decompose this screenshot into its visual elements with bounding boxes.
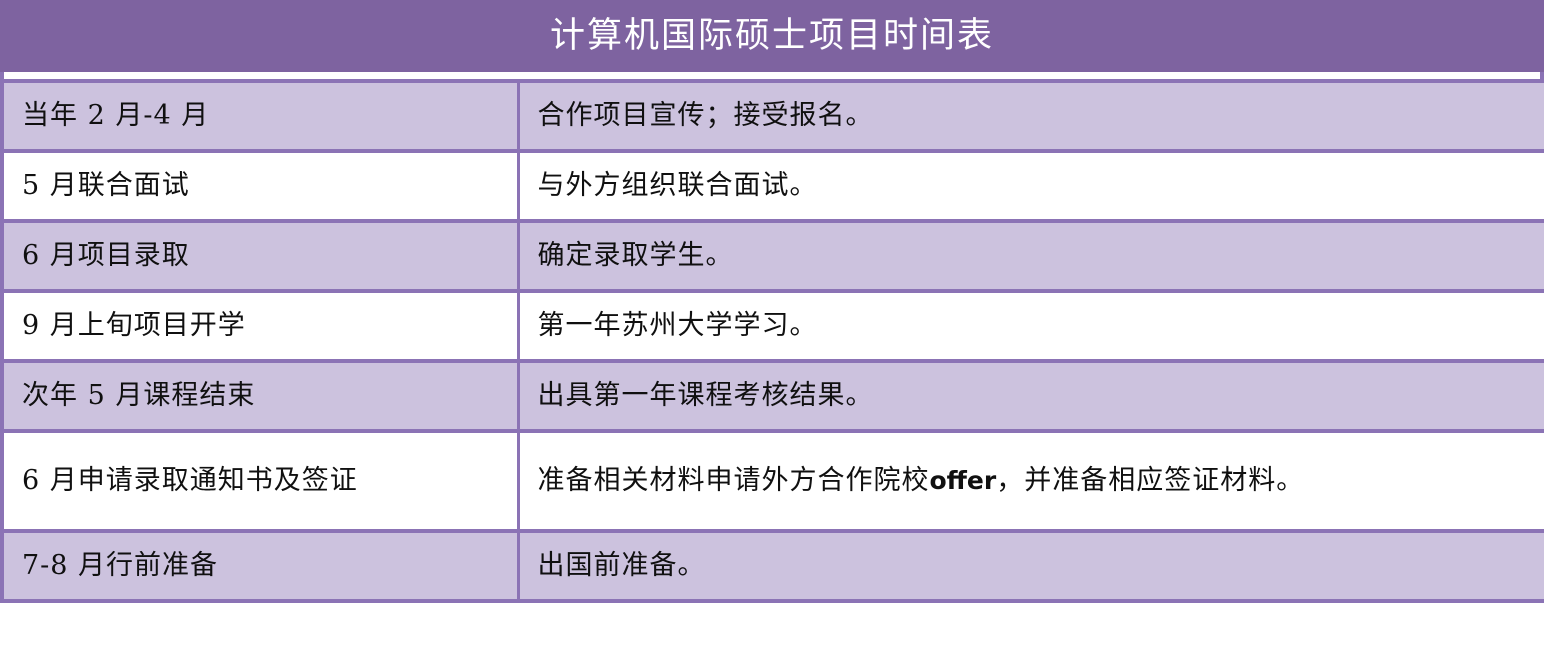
- cell-phase: 6 月项目录取: [2, 221, 518, 291]
- page-title: 计算机国际硕士项目时间表: [550, 19, 994, 54]
- table-row: 6 月申请录取通知书及签证 准备相关材料申请外方合作院校offer，并准备相应签…: [2, 431, 1544, 531]
- cell-phase: 当年 2 月-4 月: [2, 81, 518, 151]
- description-suffix: ，并准备相应签证材料。: [996, 465, 1304, 496]
- table-row: 9 月上旬项目开学 第一年苏州大学学习。: [2, 291, 1544, 361]
- cell-description: 合作项目宣传；接受报名。: [518, 81, 1544, 151]
- table-row: 当年 2 月-4 月 合作项目宣传；接受报名。: [2, 81, 1544, 151]
- title-banner: 计算机国际硕士项目时间表: [0, 0, 1544, 72]
- cell-phase: 6 月申请录取通知书及签证: [2, 431, 518, 531]
- cell-phase: 次年 5 月课程结束: [2, 361, 518, 431]
- table-row: 6 月项目录取 确定录取学生。: [2, 221, 1544, 291]
- table-row: 7-8 月行前准备 出国前准备。: [2, 531, 1544, 601]
- table-row: 5 月联合面试 与外方组织联合面试。: [2, 151, 1544, 221]
- cell-phase: 5 月联合面试: [2, 151, 518, 221]
- banner-divider: [0, 72, 1544, 79]
- cell-description: 第一年苏州大学学习。: [518, 291, 1544, 361]
- cell-description: 确定录取学生。: [518, 221, 1544, 291]
- schedule-table-body: 当年 2 月-4 月 合作项目宣传；接受报名。 5 月联合面试 与外方组织联合面…: [2, 81, 1544, 601]
- cell-description: 出具第一年课程考核结果。: [518, 361, 1544, 431]
- description-prefix: 准备相关材料申请外方合作院校: [538, 465, 930, 496]
- cell-description: 准备相关材料申请外方合作院校offer，并准备相应签证材料。: [518, 431, 1544, 531]
- cell-phase: 9 月上旬项目开学: [2, 291, 518, 361]
- cell-description: 与外方组织联合面试。: [518, 151, 1544, 221]
- description-latin-term: offer: [930, 466, 997, 495]
- cell-phase: 7-8 月行前准备: [2, 531, 518, 601]
- table-row: 次年 5 月课程结束 出具第一年课程考核结果。: [2, 361, 1544, 431]
- schedule-page: 计算机国际硕士项目时间表 当年 2 月-4 月 合作项目宣传；接受报名。 5 月…: [0, 0, 1544, 667]
- schedule-table: 当年 2 月-4 月 合作项目宣传；接受报名。 5 月联合面试 与外方组织联合面…: [0, 79, 1544, 603]
- cell-description: 出国前准备。: [518, 531, 1544, 601]
